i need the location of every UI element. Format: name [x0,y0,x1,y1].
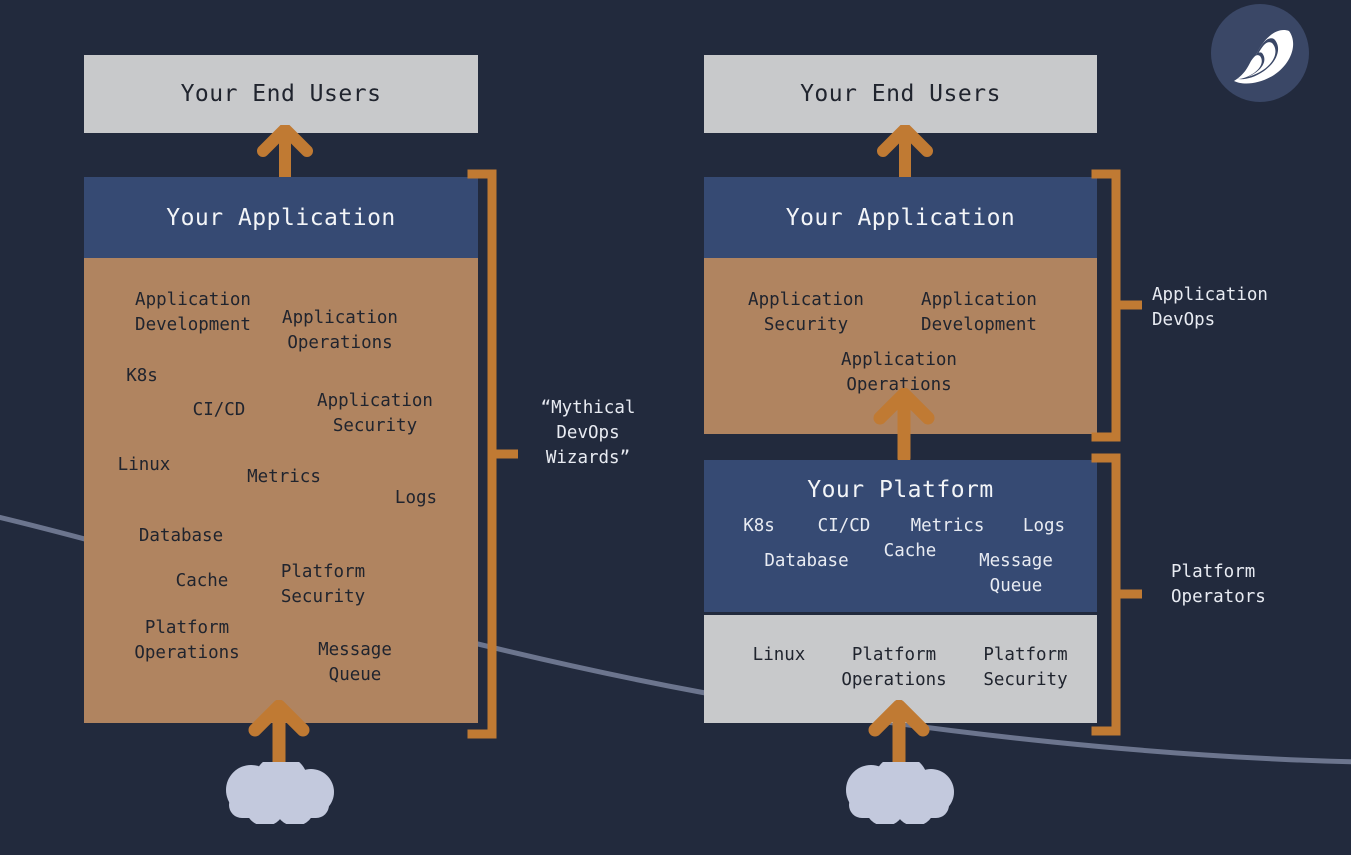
right-bracket-label-application-devops: Application DevOps [1152,283,1322,333]
left-skill-metrics: Metrics [239,465,329,490]
right-bracket-label-platform-operators: Platform Operators [1171,560,1341,610]
left-skill-message-queue: Message Queue [300,638,410,688]
right-application-box: Your Application [704,177,1097,258]
left-skill-ci-cd: CI/CD [179,398,259,423]
right-bracket-application-devops [1090,168,1142,443]
left-end-users-label: Your End Users [181,81,382,107]
right-skill-application-security: Application Security [736,288,876,338]
right-end-users-box: Your End Users [704,55,1097,133]
right-platform-skill-metrics: Metrics [900,514,995,539]
left-skill-application-operations: Application Operations [270,306,410,356]
right-platform-skill-logs: Logs [1009,514,1079,539]
right-cloud-icon [835,762,963,824]
left-arrow-app-to-users [255,125,315,183]
right-arrow-platform-to-app [870,388,938,460]
right-platform-skill-database: Database [749,549,864,574]
left-skill-application-development: Application Development [123,288,263,338]
right-ops-skill-linux: Linux [739,643,819,668]
left-skill-application-security: Application Security [305,389,445,439]
right-platform-skill-message-queue: Message Queue [956,549,1076,599]
right-platform-skill-k8s: K8s [724,514,794,539]
left-application-box: Your Application [84,177,478,258]
right-ops-skill-platform-operations: Platform Operations [824,643,964,693]
left-end-users-box: Your End Users [84,55,478,133]
left-skill-logs: Logs [381,486,451,511]
right-ops-skill-platform-security: Platform Security [963,643,1088,693]
left-application-label: Your Application [166,205,396,231]
right-skill-application-development: Application Development [904,288,1054,338]
left-skill-platform-security: Platform Security [263,560,383,610]
right-application-label: Your Application [786,205,1016,231]
left-cloud-icon [215,762,343,824]
right-platform-skill-ci-cd: CI/CD [804,514,884,539]
right-platform-box: Your Platform K8s CI/CD Metrics Logs Dat… [704,460,1097,612]
left-responsibilities-box: Application Development Application Oper… [84,258,478,723]
right-platform-skill-cache: Cache [870,539,950,564]
right-arrow-app-to-users [875,125,935,183]
left-skill-cache: Cache [162,569,242,594]
left-skill-platform-operations: Platform Operations [117,616,257,666]
left-bracket-label: “Mythical DevOps Wizards” [518,396,658,471]
right-end-users-label: Your End Users [800,81,1001,107]
left-skill-k8s: K8s [112,364,172,389]
shell-swirl-logo [1194,3,1326,107]
diagram-canvas: Your End Users Your Application Applicat… [0,0,1351,855]
right-platform-label: Your Platform [704,477,1097,503]
right-bracket-platform-operators [1090,452,1142,737]
left-skill-database: Database [126,524,236,549]
left-skill-linux: Linux [109,453,179,478]
